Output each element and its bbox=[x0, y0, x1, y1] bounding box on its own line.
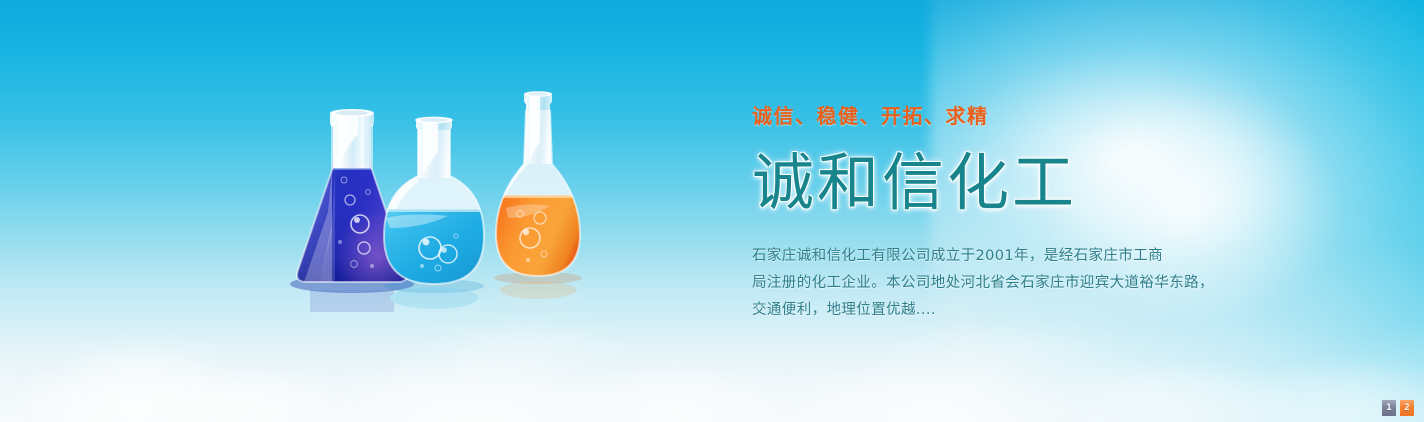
company-slogan: 诚信、稳健、开拓、求精 bbox=[752, 104, 1222, 128]
banner-copy: 诚信、稳健、开拓、求精 诚和信化工 石家庄诚和信化工有限公司成立于2001年，是… bbox=[752, 104, 1222, 324]
pagination-button-1[interactable]: 1 bbox=[1382, 400, 1396, 416]
slider-pagination: 1 2 bbox=[1382, 400, 1414, 416]
description-line-1: 石家庄诚和信化工有限公司成立于2001年，是经石家庄市工商 bbox=[752, 243, 1222, 270]
pear-flask-orange bbox=[492, 91, 586, 282]
description-line-3: 交通便利，地理位置优越.... bbox=[752, 297, 1222, 324]
company-title: 诚和信化工 bbox=[752, 150, 1222, 217]
company-description: 石家庄诚和信化工有限公司成立于2001年，是经石家庄市工商 局注册的化工企业。本… bbox=[752, 243, 1222, 324]
laboratory-flasks-illustration bbox=[272, 52, 632, 352]
hero-banner: 诚信、稳健、开拓、求精 诚和信化工 石家庄诚和信化工有限公司成立于2001年，是… bbox=[0, 0, 1424, 422]
pagination-button-2[interactable]: 2 bbox=[1400, 400, 1414, 416]
description-line-2: 局注册的化工企业。本公司地处河北省会石家庄市迎宾大道裕华东路， bbox=[752, 270, 1222, 297]
round-bottom-flask-cyan bbox=[380, 117, 490, 294]
